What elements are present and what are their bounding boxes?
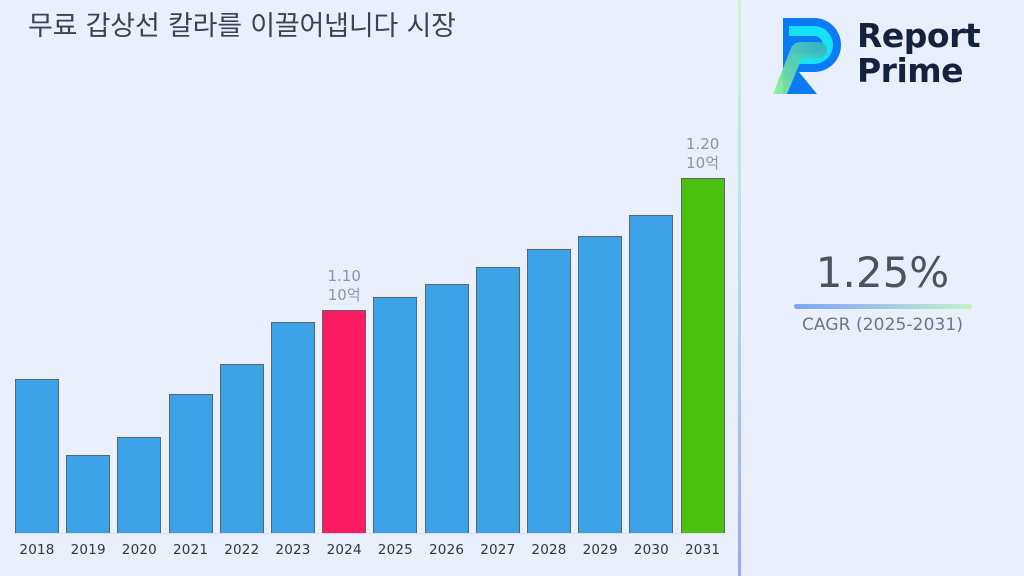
x-tick-2029: 2029 [578, 542, 622, 558]
bar-rect-2026 [425, 284, 469, 533]
bar-rect-2022 [220, 364, 264, 533]
x-tick-2020: 2020 [117, 542, 161, 558]
report-prime-logo-icon [769, 12, 845, 96]
logo: Report Prime [769, 8, 1019, 100]
bar-rect-2028 [527, 249, 571, 533]
bar-rect-2030 [629, 215, 673, 533]
cagr-divider [794, 304, 972, 309]
bar-rect-2019 [66, 455, 110, 533]
chart-infographic: 무료 갑상선 칼라를 이끌어냅니다 시장 1.10 10억1.20 10억 20… [0, 0, 1024, 576]
page-title: 무료 갑상선 칼라를 이끌어냅니다 시장 [28, 8, 508, 45]
x-tick-2025: 2025 [373, 542, 417, 558]
x-tick-2019: 2019 [66, 542, 110, 558]
x-tick-2028: 2028 [527, 542, 571, 558]
bar-rect-2027 [476, 267, 520, 533]
bar-value-label-2031: 1.20 10억 [658, 135, 748, 172]
x-tick-2018: 2018 [15, 542, 59, 558]
bar-rect-2021 [169, 394, 213, 533]
bar-rect-2023 [271, 322, 315, 533]
bar-rect-2031 [681, 178, 725, 533]
x-tick-2024: 2024 [322, 542, 366, 558]
x-tick-2027: 2027 [476, 542, 520, 558]
bar-rect-2025 [373, 297, 417, 533]
logo-wordmark: Report Prime [857, 19, 980, 89]
cagr-value: 1.25% [741, 252, 1024, 294]
cagr-block: 1.25% CAGR (2025-2031) [741, 252, 1024, 335]
x-tick-2021: 2021 [169, 542, 213, 558]
bar-rect-2018 [15, 379, 59, 533]
x-tick-2030: 2030 [629, 542, 673, 558]
x-tick-2022: 2022 [220, 542, 264, 558]
bar-rect-2020 [117, 437, 161, 533]
x-tick-2023: 2023 [271, 542, 315, 558]
cagr-caption: CAGR (2025-2031) [741, 315, 1024, 335]
chart-panel: 무료 갑상선 칼라를 이끌어냅니다 시장 1.10 10억1.20 10억 20… [0, 0, 738, 576]
brand-panel: Report Prime 1.25% CAGR (2025-2031) [741, 0, 1024, 576]
x-tick-2031: 2031 [681, 542, 725, 558]
bar-rect-2029 [578, 236, 622, 533]
x-axis-tick-labels: 2018201920202021202220232024202520262027… [0, 534, 738, 576]
plot-area: 1.10 10억1.20 10억 [0, 120, 738, 534]
bar-rect-2024 [322, 310, 366, 533]
x-tick-2026: 2026 [425, 542, 469, 558]
